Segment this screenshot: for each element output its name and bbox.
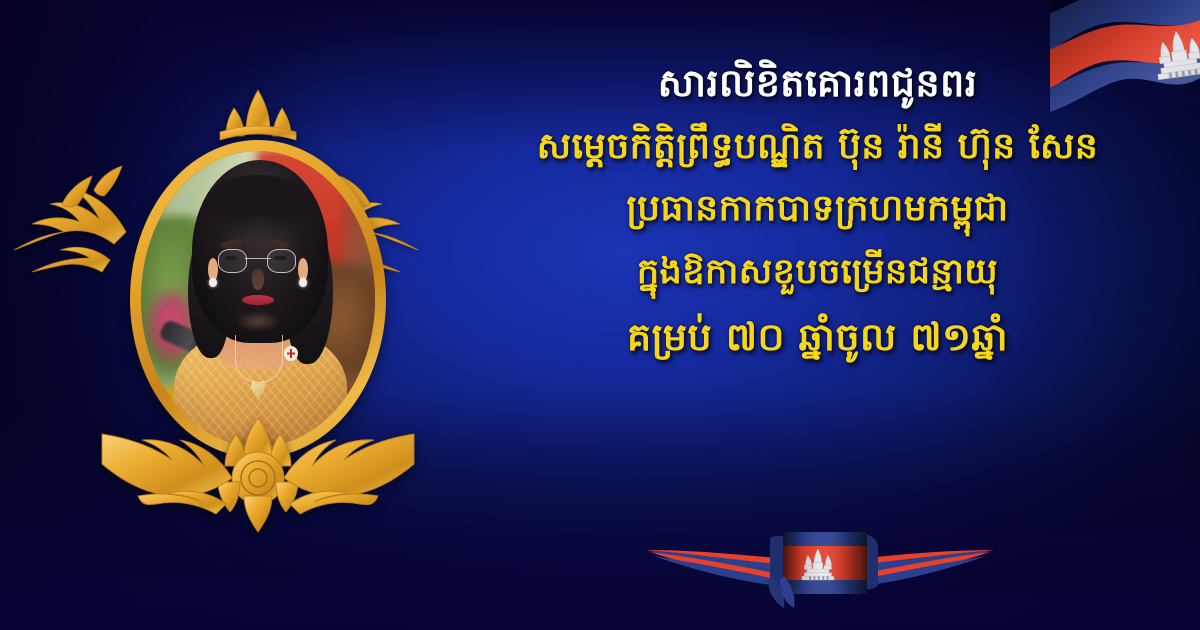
message-line-title: សារលិខិតគោរពជូនពរ <box>440 62 1195 105</box>
greeting-message: សារលិខិតគោរពជូនពរ សម្តេចកិត្តិព្រឹទ្ធបណ្… <box>440 62 1195 512</box>
khmer-gold-kbach-ornament-icon <box>98 400 418 540</box>
portrait-frame <box>10 70 430 590</box>
message-line-age: គម្រប់ ៧០ ឆ្នាំចូល ៧១ឆ្នាំ <box>440 316 1195 359</box>
cambodia-ribbon-flag-icon <box>620 516 1020 626</box>
message-line-occasion: ក្នុងឱកាសខួបចម្រើនជន្មាយុ <box>440 253 1195 292</box>
greeting-poster: សារលិខិតគោរពជូនពរ សម្តេចកិត្តិព្រឹទ្ធបណ្… <box>0 0 1200 630</box>
message-line-recipient-title: ប្រធានកាកបាទក្រហមកម្ពុជា <box>440 189 1195 229</box>
message-line-recipient-name: សម្តេចកិត្តិព្រឹទ្ធបណ្ឌិត ប៊ុន រ៉ានី ហ៊ុ… <box>440 127 1195 167</box>
